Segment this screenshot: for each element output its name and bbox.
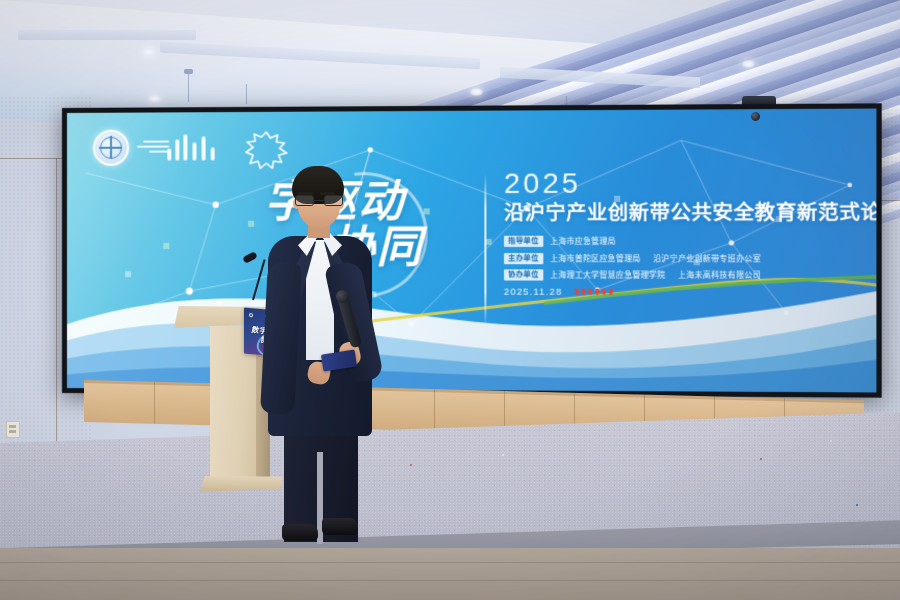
event-year: 2025 [504, 168, 871, 198]
vertical-divider [484, 174, 486, 327]
carpet-speck [502, 454, 504, 456]
conference-hall-photo: 字驱动 协同 2025 沿沪宁产业创新带公共安全教育新范式论坛 指导单位 上海市… [0, 0, 900, 600]
red-decor-marks-icon [575, 288, 613, 295]
organizer-row: 主办单位 上海市普陀区应急管理局沿沪宁产业创新带专班办公室 [504, 253, 871, 264]
presenter [248, 166, 380, 540]
screen-text-column: 2025 沿沪宁产业创新带公共安全教育新范式论坛 指导单位 上海市应急管理局 主… [504, 168, 871, 297]
organizer-row: 指导单位 上海市应急管理局 [504, 236, 871, 247]
forum-main-title: 沿沪宁产业创新带公共安全教育新范式论坛 [504, 201, 871, 224]
carpet-speck [760, 458, 762, 460]
camera-lens-icon [751, 112, 760, 121]
carpet-speck [410, 464, 412, 466]
downlight [742, 60, 755, 68]
organizer-tag: 协办单位 [504, 269, 543, 280]
downlight [142, 48, 155, 56]
organizer-tag: 主办单位 [504, 253, 543, 264]
power-outlet [6, 421, 20, 438]
emblem-inner-ring [100, 137, 122, 159]
carpet-speck [830, 440, 832, 442]
ceiling-wire [188, 72, 189, 102]
ceiling-band [18, 30, 196, 40]
downlight [470, 88, 483, 96]
organizer-values: 上海理工大学智慧应急管理学院上海未高科技有限公司 [550, 269, 773, 280]
presenter-shoe-right [322, 518, 358, 535]
accent-square [163, 243, 169, 249]
organizer-values: 上海市应急管理局 [550, 236, 628, 247]
sound-wave-bars-icon [167, 134, 221, 160]
event-date-row: 2025.11.28 [504, 287, 871, 298]
speed-lines-icon [137, 141, 169, 155]
carpet-speck [856, 504, 858, 506]
presenter-glasses [295, 195, 343, 206]
wood-floor [0, 548, 900, 600]
downlight [148, 95, 161, 103]
organizer-values: 上海市普陀区应急管理局沿沪宁产业创新带专班办公室 [550, 253, 773, 264]
ceiling-sensor [184, 69, 193, 74]
starburst-outline-icon [244, 130, 289, 171]
led-screen-content: 字驱动 协同 2025 沿沪宁产业创新带公共安全教育新范式论坛 指导单位 上海市… [67, 109, 876, 393]
organizer-row: 协办单位 上海理工大学智慧应急管理学院上海未高科技有限公司 [504, 269, 871, 281]
event-date: 2025.11.28 [504, 287, 562, 297]
institution-crest-emblem [93, 130, 129, 166]
organizer-tag: 指导单位 [504, 236, 543, 247]
ceiling-wire [246, 84, 247, 104]
led-video-wall: 字驱动 协同 2025 沿沪宁产业创新带公共安全教育新范式论坛 指导单位 上海市… [62, 103, 882, 397]
organizer-list: 指导单位 上海市应急管理局 主办单位 上海市普陀区应急管理局沿沪宁产业创新带专班… [504, 236, 871, 281]
presenter-shoe-left [282, 524, 318, 541]
